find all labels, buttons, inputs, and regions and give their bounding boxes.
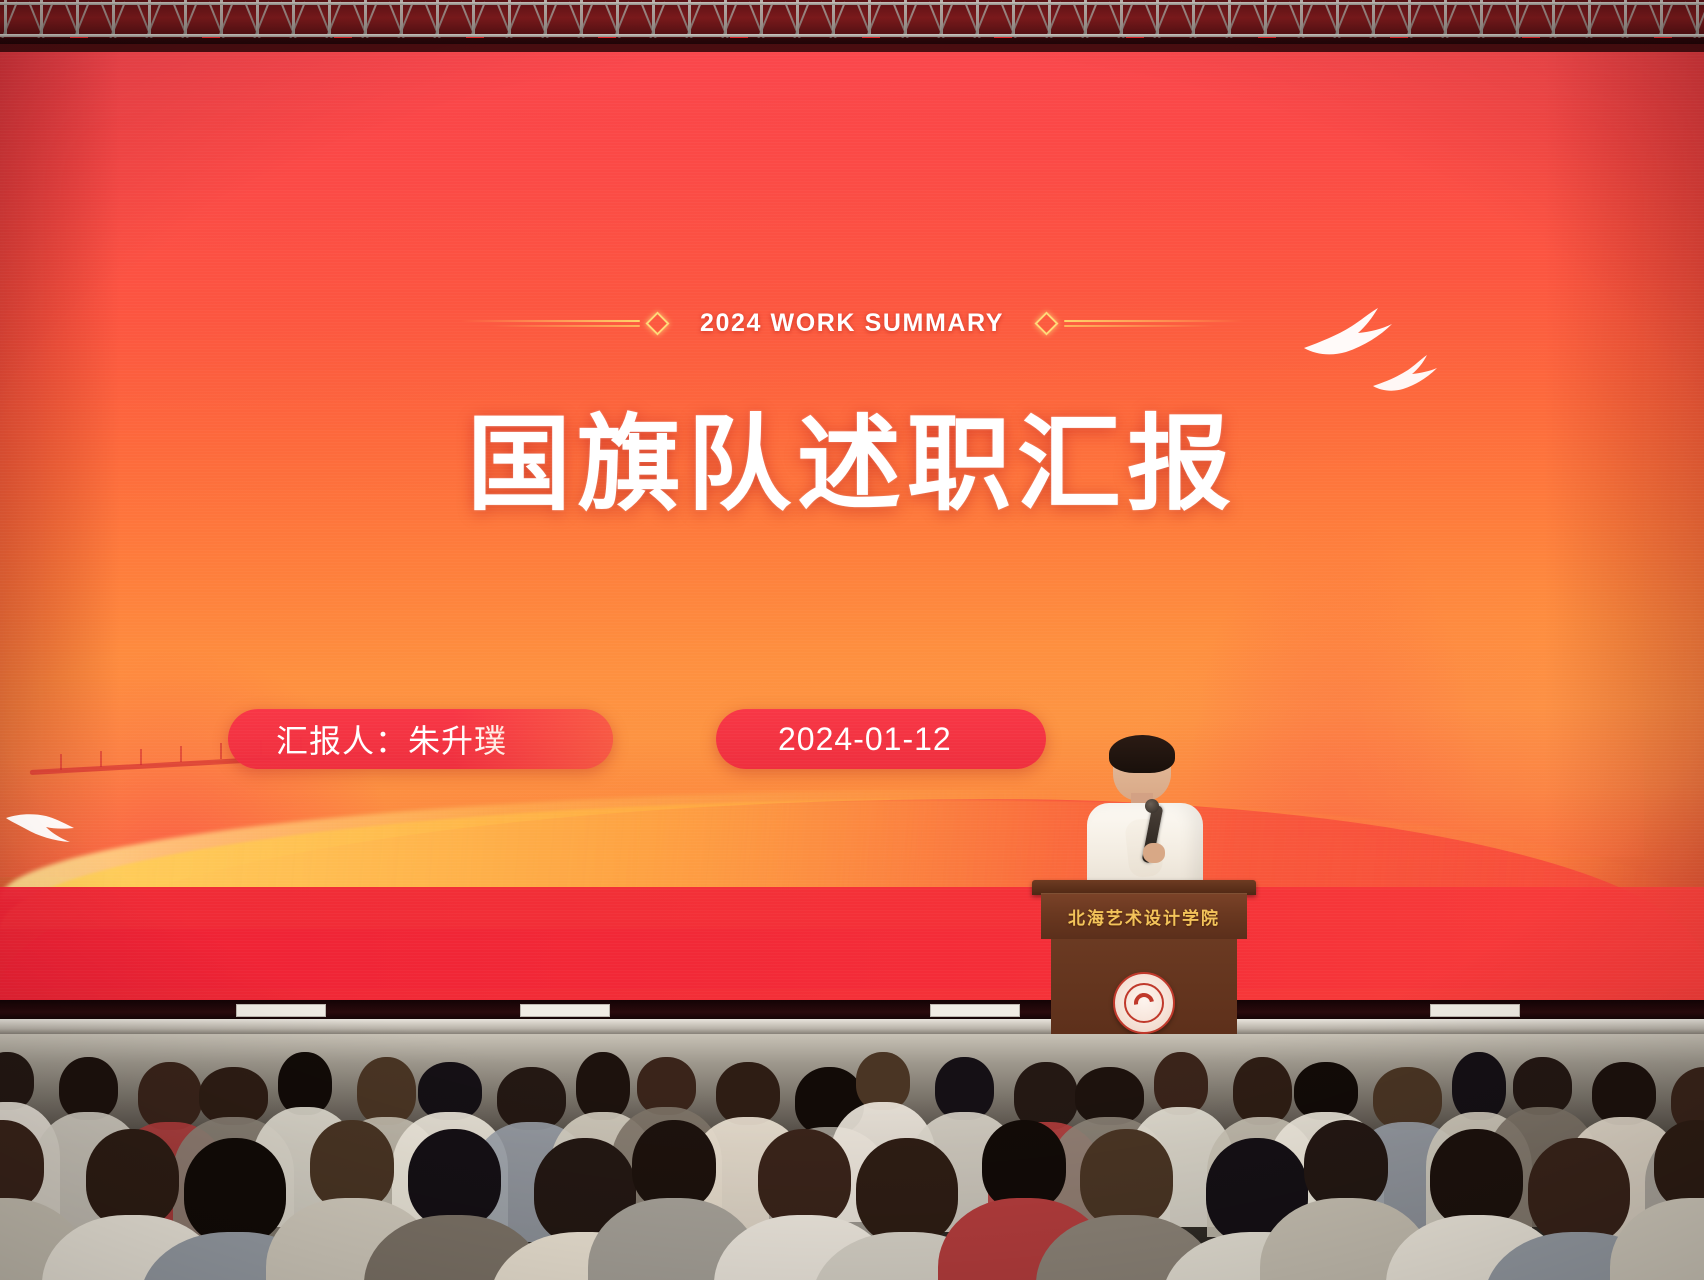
decoration-left bbox=[450, 309, 670, 337]
audience-head bbox=[184, 1138, 286, 1244]
audience-head bbox=[278, 1052, 332, 1115]
street-lamp-icon bbox=[116, 945, 120, 979]
audience-head bbox=[935, 1057, 994, 1120]
hill-silhouette-far-right bbox=[1184, 497, 1484, 837]
led-screen: 2024 WORK SUMMARY 国旗队述职汇报 汇报人：朱升璞 2024-0… bbox=[0, 52, 1704, 1007]
diamond-outline-icon bbox=[1035, 311, 1059, 335]
audience-head bbox=[1452, 1052, 1506, 1120]
audience-head bbox=[138, 1062, 202, 1130]
date-pill-label: 2024-01-12 bbox=[778, 721, 952, 758]
audience-head bbox=[1430, 1129, 1523, 1227]
audience-head bbox=[497, 1067, 566, 1130]
deco-line bbox=[460, 320, 640, 322]
audience-head bbox=[310, 1120, 394, 1210]
audience-head bbox=[1373, 1067, 1442, 1130]
audience-area bbox=[0, 1034, 1704, 1280]
audience-head bbox=[576, 1052, 630, 1120]
slide-eyebrow-text: 2024 WORK SUMMARY bbox=[670, 309, 1034, 338]
audience-head bbox=[632, 1120, 716, 1210]
slide-eyebrow-row: 2024 WORK SUMMARY bbox=[0, 300, 1704, 346]
audience-head bbox=[716, 1062, 780, 1125]
screen-edge-label bbox=[520, 1004, 610, 1017]
audience-head bbox=[856, 1138, 958, 1244]
decoration-right bbox=[1034, 309, 1254, 337]
screen-edge-label bbox=[930, 1004, 1020, 1017]
wave-band-base bbox=[0, 887, 1704, 1007]
bridge-rail bbox=[180, 746, 182, 762]
audience-head bbox=[408, 1129, 501, 1227]
screen-shade-right bbox=[1544, 52, 1704, 1007]
crest-ring bbox=[1124, 983, 1164, 1023]
audience-head bbox=[1304, 1120, 1388, 1210]
pill-fade bbox=[453, 709, 613, 769]
truss-rail-top bbox=[0, 2, 1704, 5]
dove-icon bbox=[1370, 352, 1440, 398]
deco-line bbox=[490, 325, 640, 327]
bridge-rail bbox=[60, 754, 62, 770]
crest-swirl bbox=[1130, 989, 1158, 1017]
bridge-rail bbox=[100, 751, 102, 767]
speaker-pill: 汇报人：朱升璞 bbox=[228, 709, 613, 769]
audience-head bbox=[758, 1129, 851, 1227]
screen-shade-left bbox=[0, 52, 120, 1007]
truss-rail-bottom bbox=[0, 34, 1704, 37]
podium-institution-label: 北海艺术设计学院 bbox=[1068, 904, 1220, 929]
slide-title: 国旗队述职汇报 bbox=[0, 404, 1704, 527]
wave-band-gold bbox=[0, 799, 1704, 929]
diamond-outline-icon bbox=[645, 311, 669, 335]
screen-edge-label bbox=[236, 1004, 326, 1017]
screen-lip bbox=[0, 1019, 1704, 1035]
audience-head bbox=[59, 1057, 118, 1120]
school-crest-icon bbox=[1113, 972, 1175, 1034]
date-pill: 2024-01-12 bbox=[716, 709, 1046, 769]
wave-band-red bbox=[0, 799, 1704, 989]
microphone-head-icon bbox=[1145, 799, 1159, 813]
audience-head bbox=[982, 1120, 1066, 1210]
speaker-figure bbox=[1085, 735, 1205, 895]
screenshot-root: 2024 WORK SUMMARY 国旗队述职汇报 汇报人：朱升璞 2024-0… bbox=[0, 0, 1704, 1280]
audience-head bbox=[1592, 1062, 1656, 1125]
speaker-hand bbox=[1143, 843, 1165, 863]
audience-head bbox=[1080, 1129, 1173, 1227]
wave-band-light-gold bbox=[0, 789, 1704, 899]
audience-head bbox=[1528, 1138, 1630, 1244]
audience-head bbox=[357, 1057, 416, 1125]
audience-head bbox=[1154, 1052, 1208, 1115]
bridge-rail bbox=[220, 743, 222, 759]
speaker-hair bbox=[1109, 735, 1175, 773]
deco-line bbox=[1064, 320, 1244, 322]
audience-head bbox=[1233, 1057, 1292, 1125]
podium-nameplate: 北海艺术设计学院 bbox=[1041, 893, 1247, 939]
bridge-rail bbox=[140, 749, 142, 765]
audience-head bbox=[86, 1129, 179, 1227]
deco-line bbox=[1064, 325, 1214, 327]
screen-edge-label bbox=[1430, 1004, 1520, 1017]
